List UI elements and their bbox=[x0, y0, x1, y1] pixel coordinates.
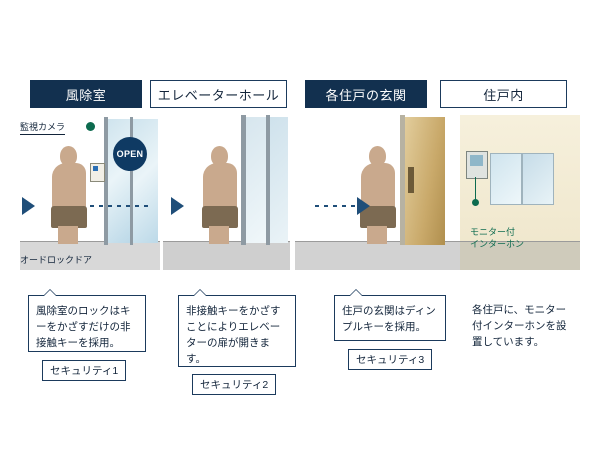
window-pane-right bbox=[522, 153, 554, 205]
camera-label: 監視カメラ bbox=[20, 120, 65, 135]
security-tag-1: セキュリティ1 bbox=[42, 360, 126, 381]
callout-1-pointer bbox=[43, 289, 57, 296]
scene: 監視カメラ オードロックドア OPEN bbox=[20, 115, 580, 270]
tab-entrance-label: 各住戸の玄関 bbox=[325, 85, 406, 104]
floor-3 bbox=[295, 242, 460, 270]
callout-3-pointer bbox=[349, 289, 363, 296]
person-2-legs bbox=[209, 226, 229, 244]
callout-3-text: 住戸の玄関はディンプルキーを採用。 bbox=[342, 305, 436, 333]
flow-arrow-3 bbox=[357, 197, 370, 215]
callout-4: 各住戸に、モニター付インターホンを設置しています。 bbox=[470, 295, 580, 355]
intercom-label-line2: インターホン bbox=[470, 237, 524, 250]
person-2 bbox=[199, 146, 241, 242]
tab-fujoshitsu-label: 風除室 bbox=[66, 85, 107, 104]
person-3-legs bbox=[367, 226, 387, 244]
security-tag-2-label: セキュリティ2 bbox=[200, 379, 268, 391]
callout-3: 住戸の玄関はディンプルキーを採用。 bbox=[334, 295, 446, 341]
entrance-door-handle-icon bbox=[408, 167, 414, 193]
flow-arrow-1 bbox=[22, 197, 35, 215]
elevator-door-right bbox=[270, 117, 288, 243]
intercom-cable-icon bbox=[475, 177, 476, 201]
tab-fujoshitsu[interactable]: 風除室 bbox=[30, 80, 142, 108]
elevator-door-left bbox=[246, 117, 266, 243]
callout-1: 風除室のロックはキーをかざすだけの非接触キーを採用。 bbox=[28, 295, 146, 352]
security-tag-3-label: セキュリティ3 bbox=[356, 354, 424, 366]
callout-2-pointer bbox=[193, 289, 207, 296]
camera-dot-icon bbox=[86, 122, 95, 131]
intercom-cable-dot-icon bbox=[472, 199, 479, 206]
panel-elevator-hall bbox=[163, 115, 290, 270]
tab-elevator-hall-label: エレベーターホール bbox=[158, 85, 280, 104]
person-3 bbox=[357, 146, 399, 242]
security-tag-1-label: セキュリティ1 bbox=[50, 365, 118, 377]
intercom-screen-icon bbox=[470, 155, 483, 166]
person-1 bbox=[48, 146, 90, 242]
floor-2 bbox=[163, 242, 290, 270]
person-1-legs bbox=[58, 226, 78, 244]
panel-entrance bbox=[295, 115, 460, 270]
panel-fujoshitsu bbox=[20, 115, 160, 270]
callout-1-text: 風除室のロックはキーをかざすだけの非接触キーを採用。 bbox=[36, 305, 131, 349]
open-badge-label: OPEN bbox=[117, 149, 144, 159]
diagram-canvas: 風除室 エレベーターホール 各住戸の玄関 住戸内 bbox=[0, 0, 600, 449]
callout-2-text: 非接触キーをかざすことによりエレベーターの扉が開きます。 bbox=[186, 305, 281, 365]
person-1-skirt bbox=[51, 206, 87, 228]
callout-4-text: 各住戸に、モニター付インターホンを設置しています。 bbox=[472, 304, 567, 348]
flow-arrow-2 bbox=[171, 197, 184, 215]
flow-dots-1 bbox=[90, 205, 152, 207]
intercom-monitor-icon bbox=[466, 151, 488, 179]
autolock-door-label: オードロックドア bbox=[20, 253, 92, 266]
flow-dots-3 bbox=[315, 205, 357, 207]
open-badge: OPEN bbox=[113, 137, 147, 171]
tab-entrance[interactable]: 各住戸の玄関 bbox=[305, 80, 427, 108]
window-pane-left bbox=[490, 153, 522, 205]
person-2-skirt bbox=[202, 206, 238, 228]
reader-led-icon bbox=[93, 166, 98, 171]
tab-elevator-hall[interactable]: エレベーターホール bbox=[150, 80, 287, 108]
tab-inside-label: 住戸内 bbox=[483, 85, 524, 104]
security-tag-3: セキュリティ3 bbox=[348, 349, 432, 370]
security-tag-2: セキュリティ2 bbox=[192, 374, 276, 395]
card-reader-icon bbox=[90, 163, 105, 182]
callout-2: 非接触キーをかざすことによりエレベーターの扉が開きます。 bbox=[178, 295, 296, 367]
tab-inside[interactable]: 住戸内 bbox=[440, 80, 567, 108]
